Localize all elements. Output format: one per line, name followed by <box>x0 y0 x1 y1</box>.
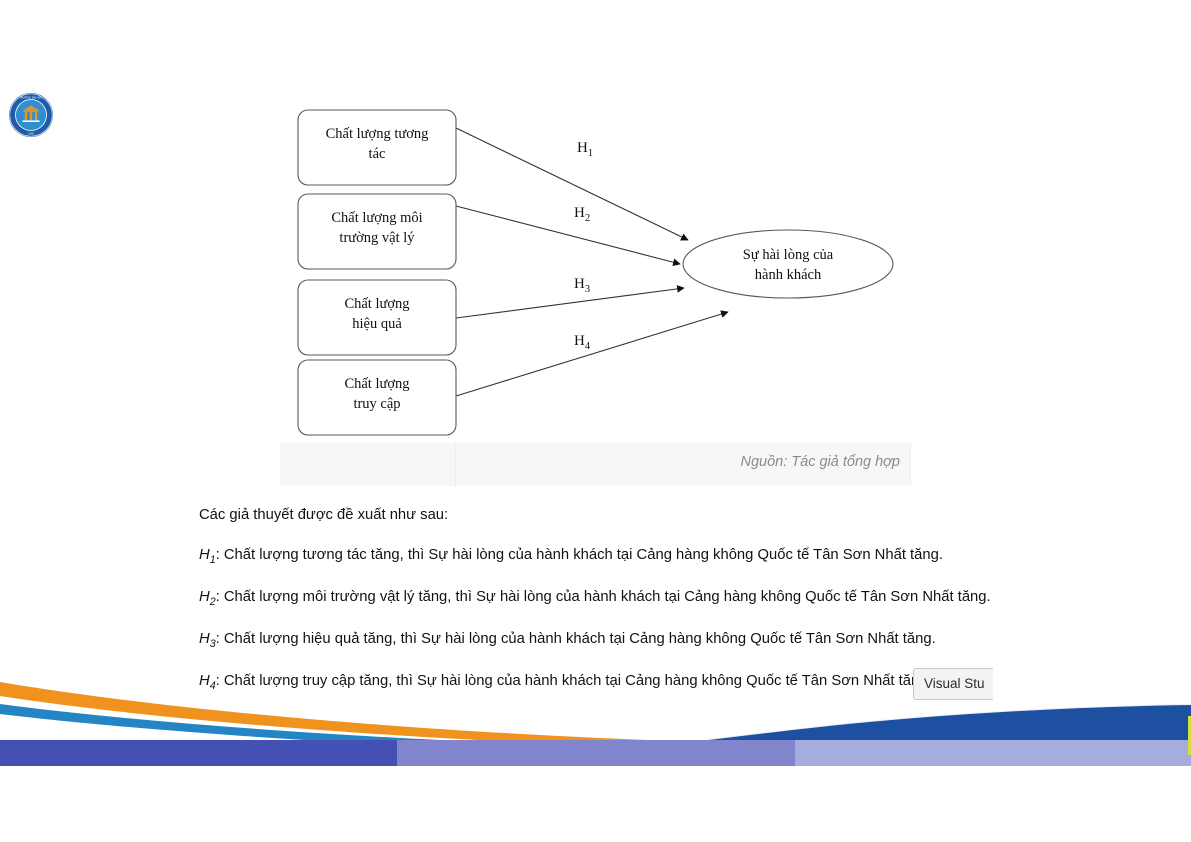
path-h3 <box>456 288 684 318</box>
path-label-h1: H1 <box>577 140 593 159</box>
hypothesis-3-label: H3 <box>199 631 216 647</box>
construct-box-2-line2: trường vật lý <box>339 230 415 246</box>
band-right <box>795 740 1191 766</box>
construct-box-3-line1: Chất lượng <box>344 296 409 312</box>
hypothesis-2-label: H2 <box>199 589 216 605</box>
path-label-h4: H4 <box>574 333 591 352</box>
hypothesis-paragraph-3: H3: Chất lượng hiệu quả tăng, thì Sự hài… <box>199 629 991 652</box>
caption-divider <box>455 443 456 486</box>
construct-box-1-line2: tác <box>369 146 386 162</box>
diagram-path-labels: H1 H2 H3 H4 <box>574 140 593 352</box>
construct-box-4: Chất lượng truy cập <box>298 360 456 435</box>
outcome-line1: Sự hài lòng của <box>743 247 834 263</box>
path-h4 <box>456 312 728 396</box>
construct-box-4-line1: Chất lượng <box>344 376 409 392</box>
path-h1 <box>456 128 688 240</box>
hypothesis-2-text: : Chất lượng môi trường vật lý tăng, thì… <box>216 589 991 605</box>
figure-source-note: Nguồn: Tác giả tổng hợp <box>740 454 900 470</box>
path-label-h2: H2 <box>574 205 590 224</box>
slide-page: TRƯỜNG ĐẠI HỌC · 1960 · <box>0 0 1191 842</box>
figure-caption-band: Nguồn: Tác giả tổng hợp <box>280 443 911 486</box>
band-left <box>0 740 397 766</box>
hypothesis-1-label: H1 <box>199 547 216 563</box>
outcome-line2: hành khách <box>755 267 822 283</box>
construct-box-3: Chất lượng hiệu quả <box>298 280 456 355</box>
hypothesis-paragraph-2: H2: Chất lượng môi trường vật lý tăng, t… <box>199 587 991 610</box>
hypothesis-paragraph-1: H1: Chất lượng tương tác tăng, thì Sự hà… <box>199 545 991 568</box>
lead-paragraph: Các giả thuyết được đề xuất như sau: <box>199 505 991 526</box>
band-middle <box>397 740 795 766</box>
hypothesis-1-text: : Chất lượng tương tác tăng, thì Sự hài … <box>216 547 943 563</box>
footer-decoration <box>0 660 1191 770</box>
path-h2 <box>456 206 680 264</box>
construct-box-2: Chất lượng môi trường vật lý <box>298 194 456 269</box>
path-label-h3: H3 <box>574 276 590 295</box>
construct-box-4-line2: truy cập <box>353 396 400 412</box>
construct-box-1-line1: Chất lượng tương <box>326 126 429 142</box>
construct-box-2-line1: Chất lượng môi <box>331 210 422 226</box>
outcome-ellipse: Sự hài lòng của hành khách <box>683 230 893 298</box>
university-logo: TRƯỜNG ĐẠI HỌC · 1960 · <box>8 92 54 138</box>
construct-box-1: Chất lượng tương tác <box>298 110 456 185</box>
diagram-boxes: Chất lượng tương tác Chất lượng môi trườ… <box>298 110 456 435</box>
svg-text:· 1960 ·: · 1960 · <box>27 131 36 135</box>
construct-box-3-line2: hiệu quả <box>352 316 402 332</box>
hypothesis-3-text: : Chất lượng hiệu quả tăng, thì Sự hài l… <box>216 631 936 647</box>
research-model-diagram: Chất lượng tương tác Chất lượng môi trườ… <box>280 96 910 441</box>
